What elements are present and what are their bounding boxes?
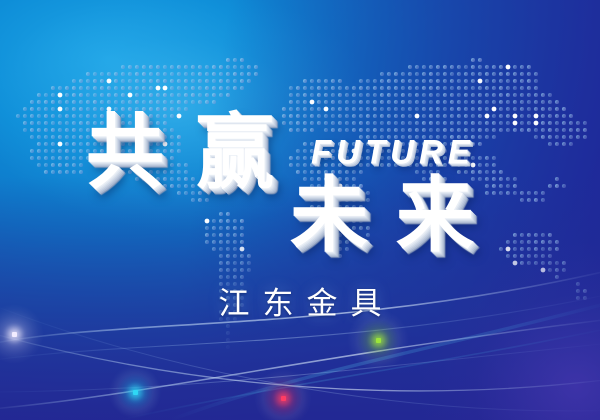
brand-name: 江东金具 [0,278,600,323]
headline-char-wei: 未 [290,174,368,256]
headline-char-gong: 共 [86,111,164,193]
headline-english-future: FUTURE [311,132,475,172]
headline-group: 共 赢 未 来 FUTURE 江东金具 [0,0,600,420]
headline-char-lai: 来 [396,174,474,256]
promo-banner: 共 赢 未 来 FUTURE 江东金具 [0,0,600,420]
headline-char-ying: 赢 [196,111,274,193]
